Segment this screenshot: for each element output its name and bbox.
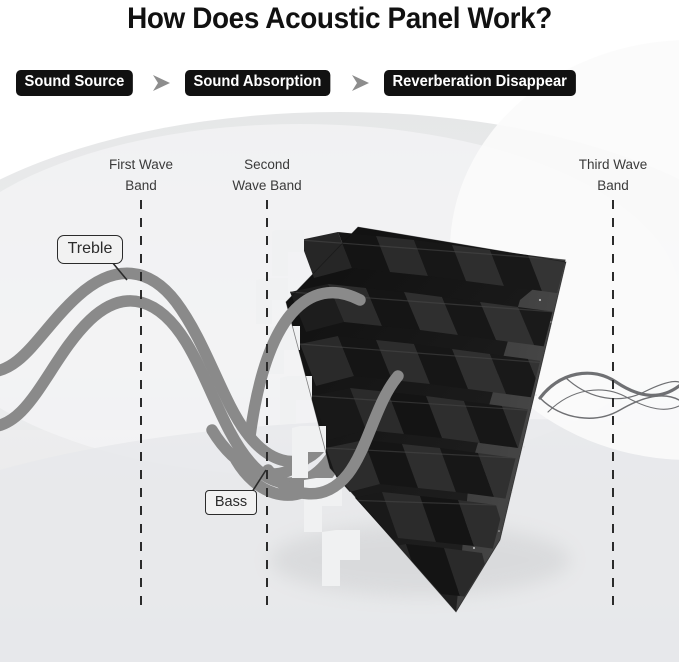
step-badge-reverberation-disappear[interactable]: Reverberation Disappear <box>384 70 575 95</box>
wave-band-label-third-line2: Band <box>553 176 673 197</box>
step-badge-sound-source[interactable]: Sound Source <box>16 70 133 95</box>
wave-band-label-first-line2: Band <box>81 176 201 197</box>
wave-band-label-first: First Wave Band <box>81 155 201 197</box>
process-steps: Sound Source Sound Absorption Reverberat… <box>16 70 668 96</box>
callout-bass: Bass <box>205 490 257 515</box>
acoustic-panel-infographic: How Does Acoustic Panel Work? Sound Sour… <box>0 0 679 662</box>
callout-treble: Treble <box>57 235 123 264</box>
wave-band-label-second-line1: Second <box>207 155 327 176</box>
step-badge-sound-absorption[interactable]: Sound Absorption <box>185 70 330 95</box>
diagram-canvas <box>0 0 679 662</box>
wave-band-label-second-line2: Wave Band <box>207 176 327 197</box>
wave-band-label-second: Second Wave Band <box>207 155 327 197</box>
wave-band-label-first-line1: First Wave <box>81 155 201 176</box>
page-title: How Does Acoustic Panel Work? <box>24 2 655 36</box>
arrow-right-icon-2 <box>338 73 384 93</box>
arrow-right-icon <box>139 73 185 93</box>
wave-band-label-third-line1: Third Wave <box>553 155 673 176</box>
wave-band-label-third: Third Wave Band <box>553 155 673 197</box>
